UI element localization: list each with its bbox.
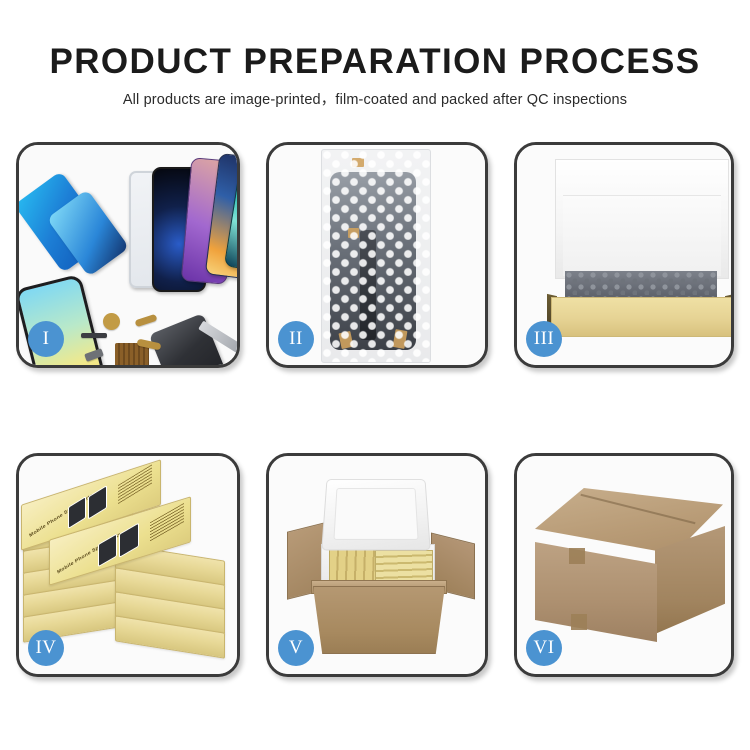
box-spec-lines-front xyxy=(150,503,184,543)
spare-part-speaker xyxy=(103,313,120,330)
page-subtitle: All products are image-printed，film-coat… xyxy=(0,88,750,109)
box-window-front-1 xyxy=(98,533,117,567)
step-badge-1: I xyxy=(28,321,64,357)
shipping-carton-front-face xyxy=(535,542,657,642)
box-window-rear-1 xyxy=(68,496,86,529)
bubble-texture xyxy=(322,150,430,362)
process-step-panel-2[interactable]: II xyxy=(266,142,488,368)
page-title: PRODUCT PREPARATION PROCESS xyxy=(0,42,750,82)
page-root: PRODUCT PREPARATION PROCESS All products… xyxy=(0,0,750,750)
process-step-panel-3[interactable]: III xyxy=(514,142,734,368)
step-badge-2: II xyxy=(278,321,314,357)
carton-tape-upper xyxy=(569,548,585,564)
foam-box-lid xyxy=(321,479,431,550)
step-badge-4: IV xyxy=(28,630,64,666)
process-step-panel-4[interactable]: Mobile Phone Spare Parts Mobile Phone Sp… xyxy=(16,453,240,677)
process-step-panel-6[interactable]: VI xyxy=(514,453,734,677)
step-badge-5: V xyxy=(278,630,314,666)
box-window-rear-2 xyxy=(88,485,107,520)
inner-box-yellow-base xyxy=(551,297,731,337)
foam-box-lid-inner xyxy=(333,488,418,540)
spare-part-strip xyxy=(81,333,107,338)
carton-body xyxy=(313,586,445,654)
carton-tape-lower xyxy=(571,614,587,630)
process-step-grid: I II xyxy=(16,142,734,677)
inner-box-lid-inner-face xyxy=(563,195,721,276)
anti-static-foam xyxy=(565,271,717,299)
packed-boxes-row-2 xyxy=(375,550,433,584)
box-spec-lines-rear xyxy=(118,464,152,505)
box-window-front-2 xyxy=(119,523,139,558)
process-step-panel-1[interactable]: I xyxy=(16,142,240,368)
process-step-panel-5[interactable]: V xyxy=(266,453,488,677)
step-badge-6: VI xyxy=(526,630,562,666)
bubble-wrap-bag xyxy=(321,149,431,363)
step-badge-3: III xyxy=(526,321,562,357)
